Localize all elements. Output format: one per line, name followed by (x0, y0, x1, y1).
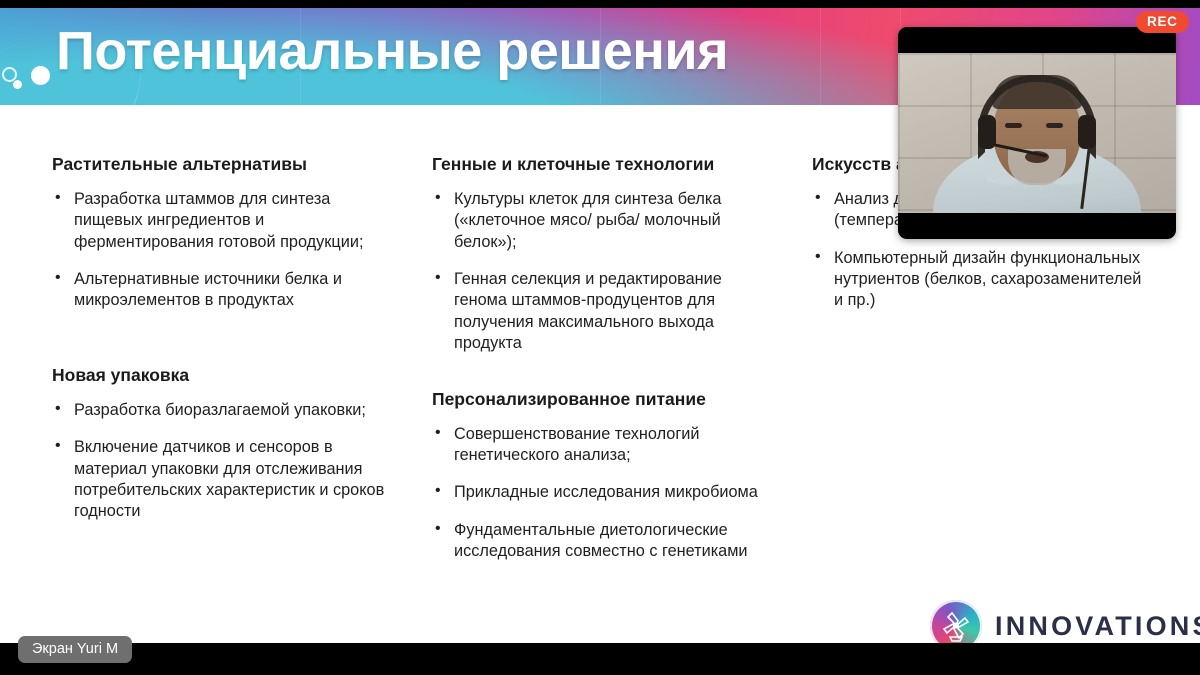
banner-dot (31, 66, 50, 85)
participant-video-tile[interactable] (898, 27, 1176, 239)
group-heading: Персонализированное питание (432, 388, 762, 411)
content-group: Персонализированное питание Совершенство… (432, 388, 762, 563)
bullet-list: Совершенствование технологий генетическо… (432, 424, 762, 563)
meeting-bottom-bar (0, 643, 1200, 675)
bullet-item: Культуры клеток для синтеза белка («клет… (432, 189, 762, 253)
bullet-item: Генная селекция и редактирование генома … (432, 269, 762, 354)
group-heading: Новая упаковка (52, 364, 390, 387)
brand-name: INNOVATIONS (995, 611, 1200, 642)
bullet-item: Альтернативные источники белка и микроэл… (52, 269, 390, 312)
bullet-item: Компьютерный дизайн функциональных нутри… (812, 248, 1152, 312)
bullet-list: Культуры клеток для синтеза белка («клет… (432, 189, 762, 354)
bullet-item: Прикладные исследования микробиома (432, 482, 762, 503)
bullet-item: Разработка штаммов для синтеза пищевых и… (52, 189, 390, 253)
recording-status-badge: REC (1136, 11, 1189, 33)
group-heading: Растительные альтернативы (52, 153, 390, 176)
content-group: Новая упаковка Разработка биоразлагаемой… (52, 364, 390, 523)
screen-share-label: Экран Yuri M (18, 636, 132, 663)
bullet-list: Разработка биоразлагаемой упаковки; Вклю… (52, 400, 390, 523)
windmill-icon (930, 600, 982, 643)
bullet-item: Фундаментальные диетологические исследов… (432, 520, 762, 563)
content-group: Генные и клеточные технологии Культуры к… (432, 153, 762, 355)
banner-dot (13, 80, 22, 89)
brand-logo: INNOVATIONS (930, 600, 1200, 643)
group-heading: Генные и клеточные технологии (432, 153, 762, 176)
bullet-item: Включение датчиков и сенсоров в материал… (52, 437, 390, 522)
headset-earcup-left (978, 115, 996, 149)
slide-title: Потенциальные решения (56, 20, 728, 82)
banner-grid-line (820, 8, 821, 105)
bullet-item: Совершенствование технологий генетическо… (432, 424, 762, 467)
content-column-1: Растительные альтернативы Разработка шта… (52, 153, 390, 553)
participant-video-feed (898, 53, 1176, 213)
bullet-list: Разработка штаммов для синтеза пищевых и… (52, 189, 390, 312)
content-column-2: Генные и клеточные технологии Культуры к… (432, 153, 762, 592)
bullet-item: Разработка биоразлагаемой упаковки; (52, 400, 390, 421)
headset-earcup-right (1078, 115, 1096, 149)
meeting-screen-share: Потенциальные решения Растительные альте… (0, 0, 1200, 675)
banner-ring (2, 67, 17, 82)
content-group: Растительные альтернативы Разработка шта… (52, 153, 390, 312)
